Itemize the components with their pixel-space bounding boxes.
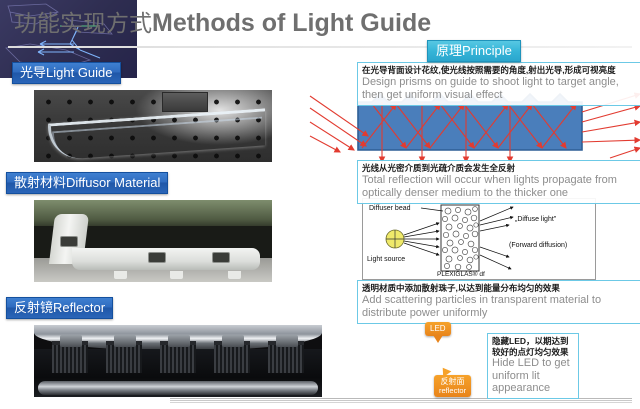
label-diffusor-en: Diffusor Material [66, 175, 160, 190]
callout-led: LED [425, 322, 451, 336]
diffusor-foot [228, 271, 241, 279]
callout-reflector-en: reflector [439, 386, 466, 395]
page-title: 功能实现方式Methods of Light Guide [14, 4, 431, 38]
bench-fixture-block [162, 92, 208, 112]
diffuser-diagram-svg: Diffuser bead Light source PLEXIGLAS® df… [363, 199, 593, 277]
text-total-reflection-cn: 光线从光密介质到光疏介质会发生全反射 [362, 163, 638, 174]
led-connector-clip [168, 335, 190, 347]
diffuser-scatter-diagram: Diffuser bead Light source PLEXIGLAS® df… [362, 198, 596, 280]
label-light-guide-en: Light Guide [46, 65, 113, 80]
callout-led-label: LED [430, 324, 446, 333]
footer-divider [170, 398, 632, 403]
label-diffusor-material: 散射材料Diffusor Material [6, 172, 168, 194]
label-light-guide-cn: 光导 [20, 65, 46, 80]
led-connector-clip [114, 335, 136, 347]
label-principle-cn: 原理 [436, 43, 462, 58]
text-block-hide-led: 隐藏LED，以期达到较好的点灯均匀效果 Hide LED to get unif… [487, 333, 579, 399]
label-principle-en: Principle [462, 43, 512, 58]
text-total-reflection-en: Total reflection will occur when lights … [362, 174, 638, 200]
text-block-scattering: 透明材质中添加散射珠子,以达到能量分布均匀的效果 Add scattering … [357, 280, 640, 324]
diffuse-light-label: „Diffuse light" [515, 216, 557, 223]
callout-reflector-cn: 反射面 [439, 377, 466, 386]
text-principle-cn: 在光导背面设计花纹,使光线按照需要的角度,射出光导,形成可视亮度 [362, 65, 638, 76]
title-divider [8, 46, 632, 48]
text-block-principle: 在光导背面设计花纹,使光线按照需要的角度,射出光导,形成可视亮度 Design … [357, 62, 640, 106]
forward-diffusion-label: (Forward diffusion) [509, 242, 567, 249]
reflector-lamp-photo [34, 325, 322, 397]
text-hide-led-en: Hide LED to get uniform lit appearance [492, 357, 574, 395]
diffusor-foot [114, 271, 127, 279]
diffusor-clip-tab [148, 252, 166, 263]
label-reflector: 反射镜Reflector [6, 297, 113, 319]
led-connector-clip [60, 335, 82, 347]
diffusor-horizontal-arm [72, 248, 260, 270]
label-diffusor-cn: 散射材料 [14, 175, 66, 190]
page-title-cn: 功能实现方式 [14, 10, 152, 36]
text-block-total-reflection: 光线从光密介质到光疏介质会发生全反射 Total reflection will… [357, 160, 640, 204]
diffusor-part [52, 214, 260, 272]
diffusor-foot [170, 271, 183, 279]
light-source-label: Light source [367, 256, 405, 263]
text-hide-led-cn: 隐藏LED，以期达到较好的点灯均匀效果 [492, 336, 574, 357]
plexiglas-label: PLEXIGLAS® df [437, 270, 485, 278]
incident-ray-group [404, 223, 439, 255]
label-reflector-cn: 反射镜 [14, 300, 53, 315]
diffusor-part-photo [34, 200, 272, 282]
diffusor-clip-tab [60, 236, 78, 247]
label-reflector-en: Reflector [53, 300, 105, 315]
text-scattering-en: Add scattering particles in transparent … [362, 294, 638, 320]
chrome-bezel-bottom [38, 381, 318, 395]
label-light-guide: 光导Light Guide [12, 62, 121, 84]
light-guide-photo [34, 90, 272, 162]
text-scattering-cn: 透明材质中添加散射珠子,以达到能量分布均匀的效果 [362, 283, 638, 294]
diffuser-bead-label: Diffuser bead [369, 205, 411, 212]
text-principle-en: Design prisms on guide to shoot light to… [362, 76, 638, 102]
diffuse-ray-group [480, 207, 513, 269]
led-connector-clip [222, 335, 244, 347]
callout-reflector: 反射面 reflector [434, 375, 471, 397]
diffusor-clip-tab [212, 252, 230, 263]
page-title-en: Methods of Light Guide [152, 9, 431, 37]
label-principle: 原理Principle [427, 40, 521, 62]
led-connector-clip [276, 335, 298, 347]
